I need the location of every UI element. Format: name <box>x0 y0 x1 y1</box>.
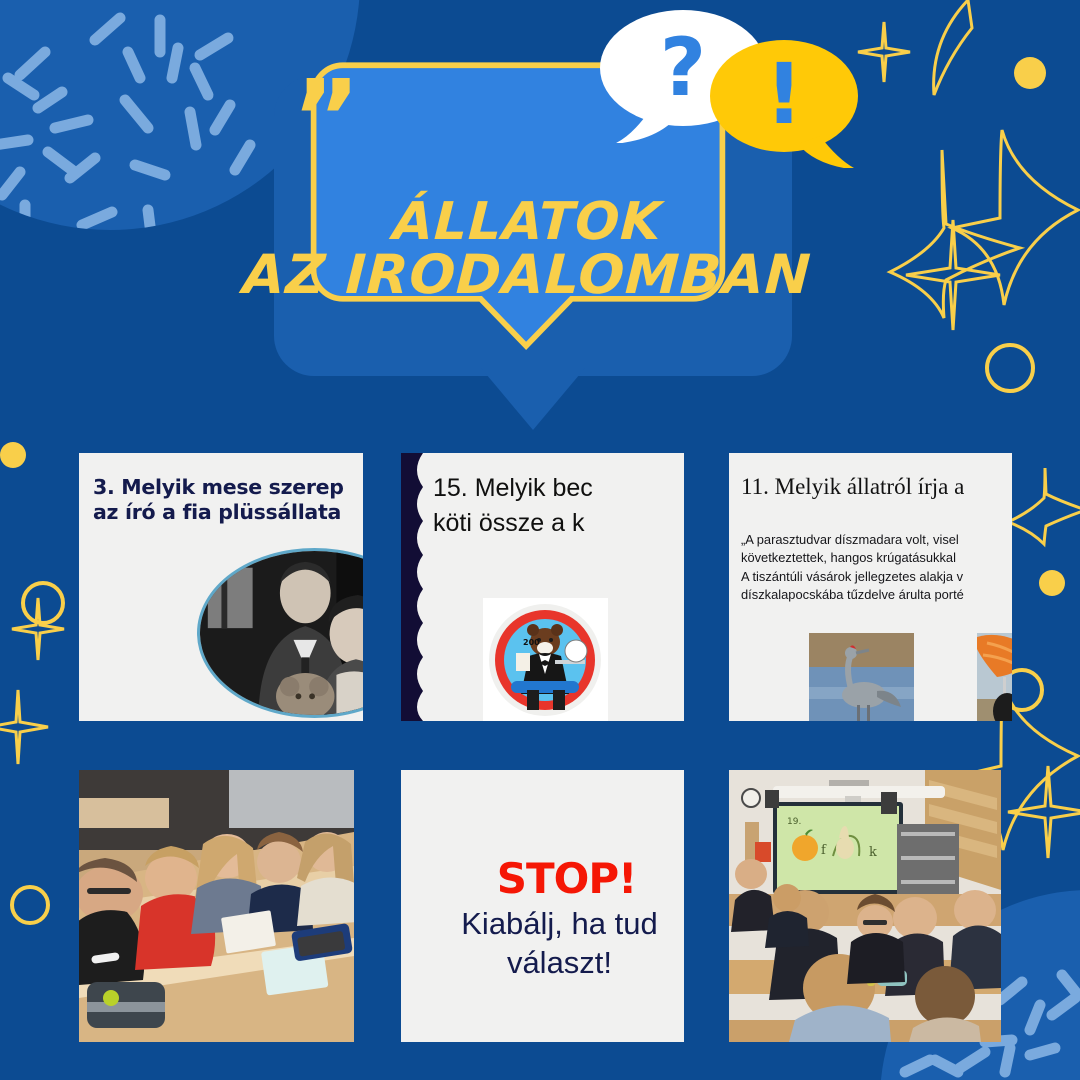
bear-cheese-label-image: 200 <box>483 598 608 721</box>
card-question-11-title: 11. Melyik állatról írja a <box>741 473 1012 501</box>
svg-text:k: k <box>869 845 877 860</box>
card-photo-students-table[interactable] <box>79 770 354 1042</box>
card-question-15-title: 15. Melyik bec köti össze a k <box>433 471 684 540</box>
exclamation-speech-bubble: ! <box>708 38 860 168</box>
card-photo-classroom[interactable]: 19. f k <box>729 770 1001 1042</box>
page-title-line-2: AZ IRODALOMBAN <box>242 249 813 301</box>
page-title-line-1: ÁLLATOK <box>391 197 662 247</box>
svg-text:19.: 19. <box>787 817 801 827</box>
wavy-edge-decoration <box>401 453 431 721</box>
svg-text:200: 200 <box>523 638 540 647</box>
card-question-3-title: 3. Melyik mese szerep az író a fia plüss… <box>93 475 363 525</box>
stop-subtitle: Kiabálj, ha tud választ! <box>401 905 684 983</box>
crane-bird-photo <box>809 633 914 721</box>
stop-label: STOP! <box>497 854 637 903</box>
exclamation-mark-glyph: ! <box>708 38 860 168</box>
card-question-11[interactable]: 11. Melyik állatról írja a „A parasztudv… <box>729 453 1012 721</box>
card-question-15[interactable]: 15. Melyik bec köti össze a k 200 <box>401 453 684 721</box>
card-question-11-quote: „A parasztudvar díszmadara volt, visel k… <box>741 531 1012 604</box>
quote-mark-icon: ” <box>292 88 358 148</box>
writer-and-son-photo <box>197 548 363 718</box>
card-question-3[interactable]: 3. Melyik mese szerep az író a fia plüss… <box>79 453 363 721</box>
students-at-table-photo <box>79 770 354 1042</box>
classroom-photo: 19. f k <box>729 770 1001 1042</box>
card-stop[interactable]: STOP! Kiabálj, ha tud választ! <box>401 770 684 1042</box>
feather-duster-seller-photo <box>977 633 1012 721</box>
